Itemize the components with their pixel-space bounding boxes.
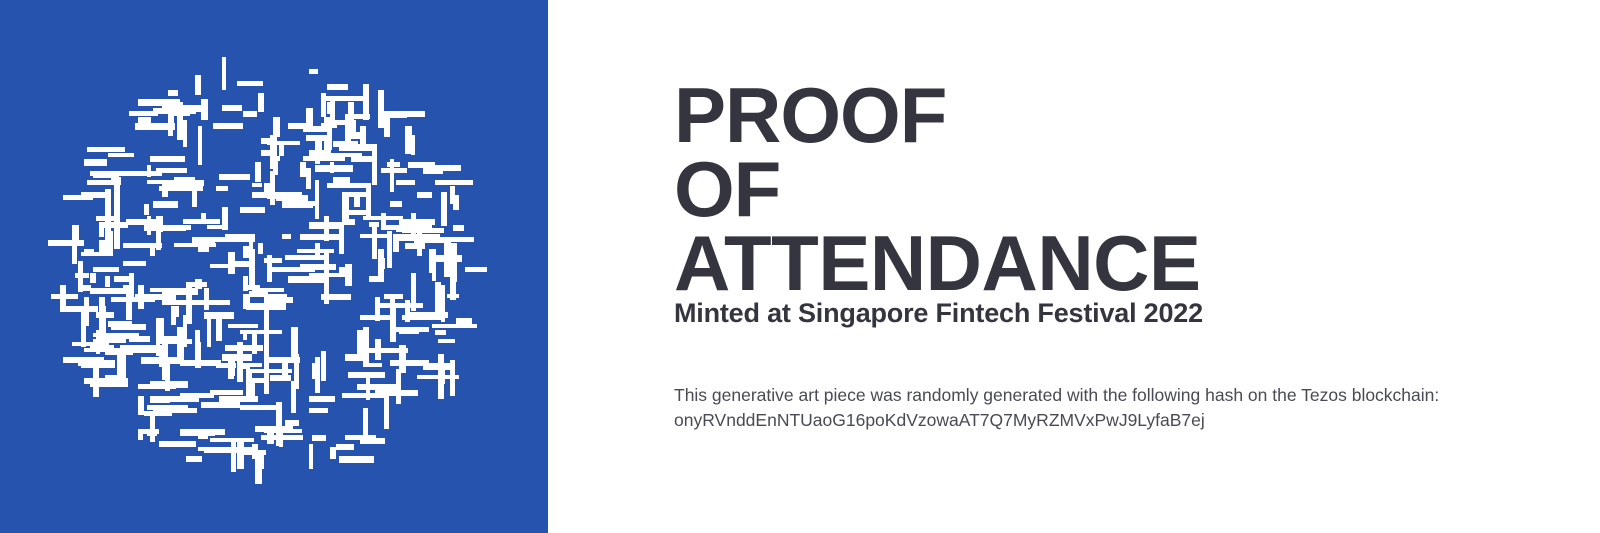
generative-art-panel <box>0 0 548 533</box>
description-block: This generative art piece was randomly g… <box>674 383 1534 433</box>
certificate-text-panel: PROOF OF ATTENDANCE Minted at Singapore … <box>548 0 1600 533</box>
description-text: This generative art piece was randomly g… <box>674 383 1534 408</box>
subtitle: Minted at Singapore Fintech Festival 202… <box>674 297 1203 329</box>
page-title: PROOF OF ATTENDANCE <box>674 78 1474 300</box>
title-line-3: ATTENDANCE <box>674 226 1474 300</box>
generative-art-circle <box>0 0 548 533</box>
title-line-2: OF <box>674 152 1474 226</box>
proof-of-attendance-card: PROOF OF ATTENDANCE Minted at Singapore … <box>0 0 1600 533</box>
blockchain-hash: onyRVnddEnNTUaoG16poKdVzowaAT7Q7MyRZMVxP… <box>674 408 1534 433</box>
title-line-1: PROOF <box>674 78 1474 152</box>
